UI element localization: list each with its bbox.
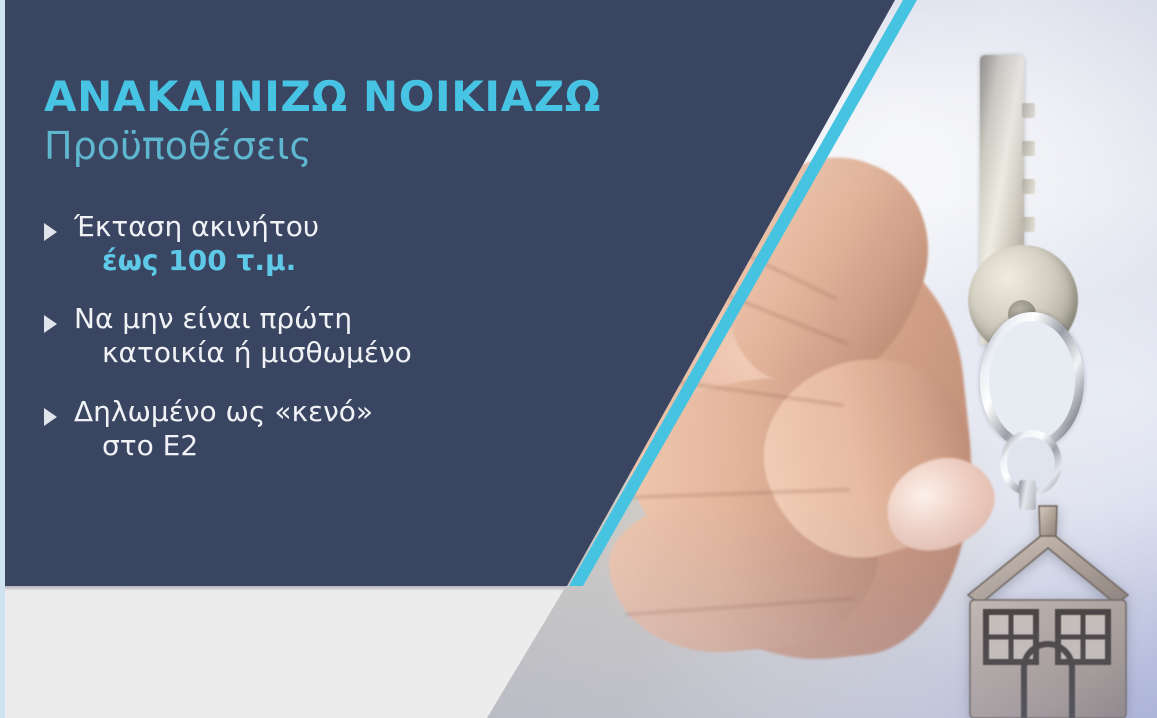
triangle-bullet-icon <box>44 408 57 426</box>
list-item-text: Έκταση ακινήτου έως 100 τ.μ. <box>74 210 564 278</box>
list-item-line-2: έως 100 τ.μ. <box>74 244 564 278</box>
list-item-line-2: κατοικία ή μισθωμένο <box>74 336 564 370</box>
list-item-line-1: Δηλωμένο ως «κενό» <box>74 395 564 429</box>
list-item-line-1: Να μην είναι πρώτη <box>74 302 564 336</box>
triangle-bullet-icon <box>44 223 57 241</box>
left-edge-rail <box>0 0 5 718</box>
list-item: Να μην είναι πρώτη κατοικία ή μισθωμένο <box>44 302 564 370</box>
bullet-list: Έκταση ακινήτου έως 100 τ.μ. Να μην είνα… <box>44 210 564 487</box>
list-item-line-2: στο Ε2 <box>74 429 564 463</box>
slide-subtitle: Προϋποθέσεις <box>44 127 312 165</box>
content-block: ΑΝΑΚΑΙΝΙΖΩ ΝΟΙΚΙΑΖΩ Προϋποθέσεις Έκταση … <box>44 0 584 586</box>
list-item-line-1: Έκταση ακινήτου <box>74 210 564 244</box>
list-item-text: Να μην είναι πρώτη κατοικία ή μισθωμένο <box>74 302 564 370</box>
slide-title: ΑΝΑΚΑΙΝΙΖΩ ΝΟΙΚΙΑΖΩ <box>44 76 601 118</box>
list-item: Δηλωμένο ως «κενό» στο Ε2 <box>44 395 564 463</box>
list-item-text: Δηλωμένο ως «κενό» στο Ε2 <box>74 395 564 463</box>
list-item: Έκταση ακινήτου έως 100 τ.μ. <box>44 210 564 278</box>
triangle-bullet-icon <box>44 315 57 333</box>
slide-root: ΑΝΑΚΑΙΝΙΖΩ ΝΟΙΚΙΑΖΩ Προϋποθέσεις Έκταση … <box>0 0 1157 718</box>
